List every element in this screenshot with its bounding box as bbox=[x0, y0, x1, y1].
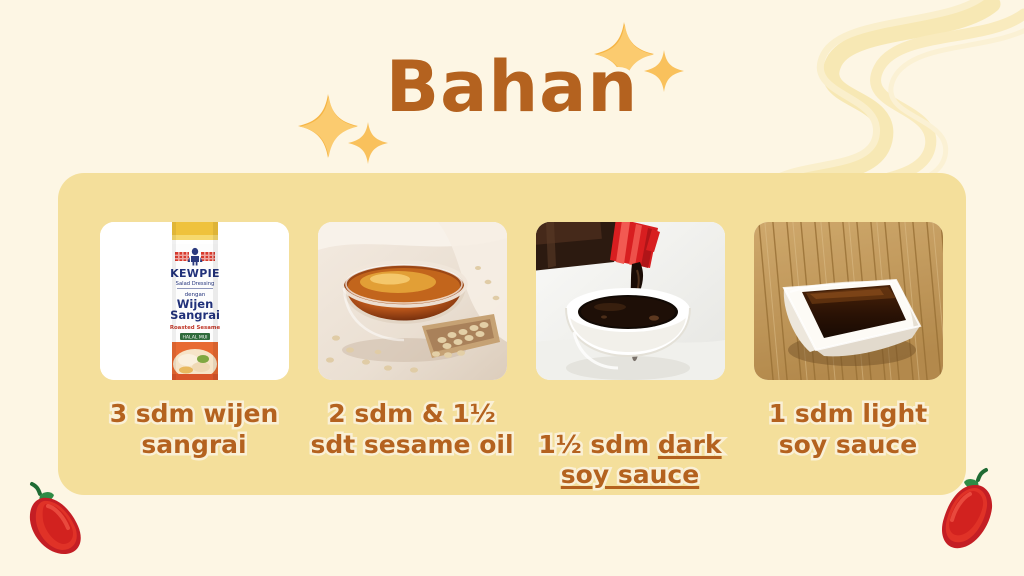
svg-text:Salad Dressing: Salad Dressing bbox=[175, 281, 214, 287]
ingredient-label-wijen-sangrai: 3 sdm wijen sangrai bbox=[110, 399, 279, 460]
slide-canvas: Bahan bbox=[0, 0, 1024, 576]
ingredient-item-dark-soy-sauce[interactable]: 1½ sdm dark soy sauce bbox=[528, 222, 732, 491]
ingredient-label-light-soy-sauce: 1 sdm light soy sauce bbox=[769, 399, 927, 460]
ingredient-image-dark-soy-sauce bbox=[536, 222, 725, 380]
ingredient-label-dark-soy-sauce: 1½ sdm dark soy sauce bbox=[528, 399, 732, 491]
ingredient-label-sesame-oil: 2 sdm & 1½ sdt sesame oil bbox=[310, 399, 513, 460]
ingredients-list: KEWPIE Salad Dressing dengan Wijen Sangr… bbox=[58, 173, 966, 495]
ingredient-item-sesame-oil[interactable]: 2 sdm & 1½ sdt sesame oil bbox=[310, 222, 514, 460]
ingredient-image-sesame-oil bbox=[318, 222, 507, 380]
svg-text:Sangrai: Sangrai bbox=[170, 308, 220, 322]
ingredient-image-wijen-sangrai: KEWPIE Salad Dressing dengan Wijen Sangr… bbox=[100, 222, 289, 380]
svg-text:HALAL MUI: HALAL MUI bbox=[182, 335, 207, 341]
page-title: Bahan bbox=[0, 52, 1024, 122]
svg-text:KEWPIE: KEWPIE bbox=[170, 267, 220, 280]
ingredient-image-light-soy-sauce bbox=[754, 222, 943, 380]
ingredient-item-wijen-sangrai[interactable]: KEWPIE Salad Dressing dengan Wijen Sangr… bbox=[92, 222, 296, 460]
ingredient-label-dark-soy-sauce-line1: 1½ sdm bbox=[538, 430, 658, 459]
ingredient-item-light-soy-sauce[interactable]: 1 sdm light soy sauce bbox=[746, 222, 950, 460]
svg-text:Roasted Sesame: Roasted Sesame bbox=[169, 325, 220, 331]
